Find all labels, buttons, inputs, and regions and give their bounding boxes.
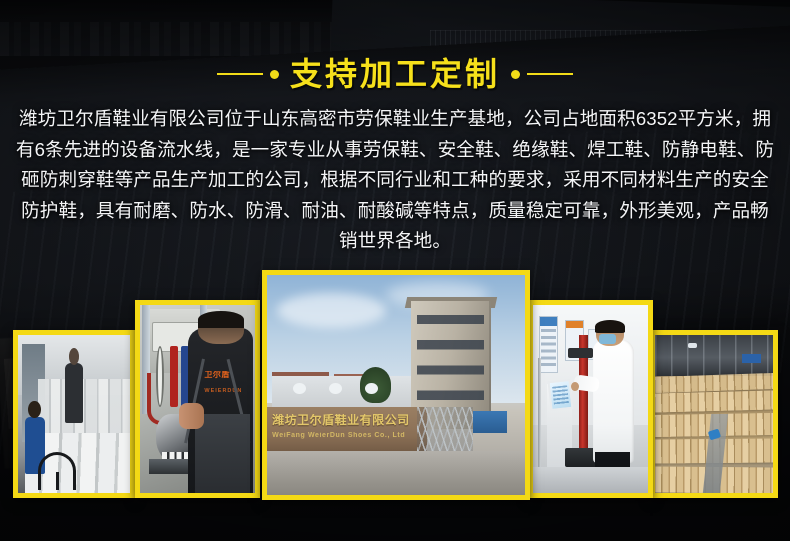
wall-poster-1: [539, 316, 559, 372]
cloud-left: [277, 293, 385, 328]
wall-lamp-3-icon: [365, 383, 378, 394]
photo-testing-lab-image: [533, 305, 648, 493]
office-building-windows: [417, 315, 484, 416]
operator-hair: [198, 311, 244, 328]
photo-factory-gate-image: 潍坊卫尔盾鞋业有限公司 WeiFang WeierDun Shoes Co., …: [267, 275, 525, 495]
photo-loading-truck: [13, 330, 135, 498]
sliding-gate: [417, 407, 474, 451]
wall-lamp-2-icon: [329, 383, 342, 394]
company-sign-chinese: 潍坊卫尔盾鞋业有限公司: [272, 414, 416, 427]
measuring-rail: [538, 358, 541, 475]
blue-signboard: [473, 411, 507, 433]
worker-standing: [65, 363, 83, 423]
technician-hair: [595, 320, 625, 333]
company-sign-english: WeiFang WeierDun Shoes Co., Ltd: [272, 432, 422, 440]
technician-lab-coat: [593, 339, 634, 463]
photo-warehouse-cartons-image: [655, 335, 773, 493]
company-introduction-banner: 支持加工定制 潍坊卫尔盾鞋业有限公司位于山东高密市劳保鞋业生产基地，公司占地面积…: [0, 0, 790, 541]
carton-row: [655, 390, 773, 413]
shirt-logo-chinese: 卫尔盾: [204, 371, 243, 386]
operator-apron: [195, 414, 250, 493]
control-tablet-screen: [548, 379, 574, 411]
photo-collage: 卫尔盾 WEIERDUN: [0, 0, 790, 541]
photo-warehouse-cartons: [650, 330, 778, 498]
lab-floor: [533, 467, 648, 493]
wall-lamp-1-icon: [293, 383, 306, 394]
ceiling-lamp-icon: [688, 343, 697, 348]
photo-press-machine-operator-image: 卫尔盾 WEIERDUN: [140, 305, 255, 493]
warehouse-wall-sign: [742, 354, 761, 363]
paved-ground: [267, 451, 525, 495]
shirt-logo-english: WEIERDUN: [204, 388, 248, 394]
photo-factory-gate: 潍坊卫尔盾鞋业有限公司 WeiFang WeierDun Shoes Co., …: [262, 270, 530, 500]
operator-arm: [179, 403, 204, 429]
testing-machine-crosshead: [568, 348, 593, 357]
photo-testing-lab: [528, 300, 653, 498]
photo-loading-truck-image: [18, 335, 130, 493]
photo-press-machine-operator: 卫尔盾 WEIERDUN: [135, 300, 260, 498]
pallet-jack-handle: [38, 452, 76, 490]
technician-face-mask: [599, 334, 616, 343]
